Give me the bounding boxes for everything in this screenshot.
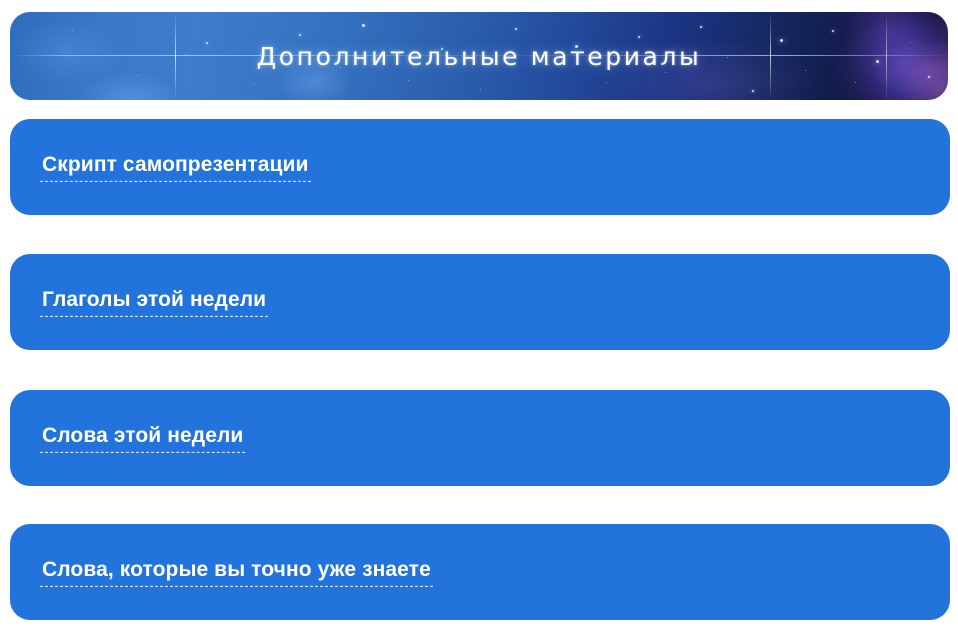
material-link-4[interactable]: Слова, которые вы точно уже знаете: [40, 557, 433, 587]
material-card[interactable]: Скрипт самопрезентации: [10, 119, 950, 215]
material-card[interactable]: Глаголы этой недели: [10, 254, 950, 350]
material-link-3[interactable]: Слова этой недели: [40, 423, 245, 453]
material-link-2[interactable]: Глаголы этой недели: [40, 287, 268, 317]
material-card[interactable]: Слова этой недели: [10, 390, 950, 486]
material-link-1[interactable]: Скрипт самопрезентации: [40, 152, 311, 182]
materials-page: Дополнительные материалы Скрипт самопрез…: [0, 0, 958, 633]
material-card[interactable]: Слова, которые вы точно уже знаете: [10, 524, 950, 620]
page-title: Дополнительные материалы: [10, 12, 948, 100]
header-banner: Дополнительные материалы: [10, 12, 948, 100]
